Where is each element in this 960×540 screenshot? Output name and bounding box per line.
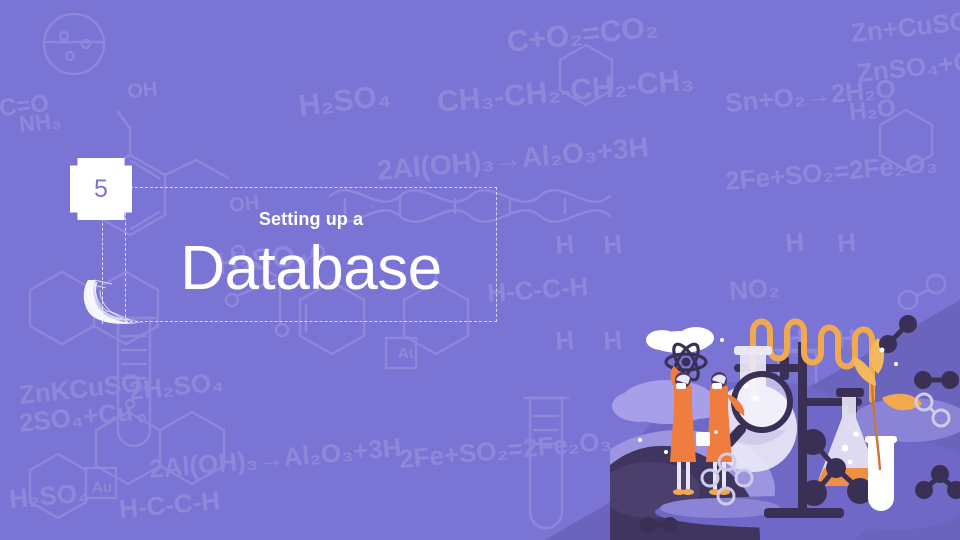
svg-text:CH₃-CH₂-CH₂-CH₃: CH₃-CH₂-CH₂-CH₃ [436,64,696,119]
svg-text:2SO₄+Cu: 2SO₄+Cu [17,396,134,438]
svg-text:2Fe+SO₂=2Fe₂O₃: 2Fe+SO₂=2Fe₂O₃ [398,426,613,474]
svg-text:H: H [554,325,575,356]
svg-text:H-C-C-H: H-C-C-H [118,485,221,524]
svg-text:H: H [554,229,575,260]
brush-stroke-feather-icon [78,276,154,326]
slide-number: 5 [70,158,132,220]
svg-text:2H₂SO₄: 2H₂SO₄ [127,366,224,406]
svg-text:2Fe+SO₂=2Fe₂O₃: 2Fe+SO₂=2Fe₂O₃ [724,148,939,196]
svg-text:H-C-C-H: H-C-C-H [486,271,589,308]
svg-text:NH₃: NH₃ [18,108,62,137]
svg-text:H₂SO₄: H₂SO₄ [8,477,91,514]
svg-text:H: H [602,229,623,260]
svg-text:2Al(OH)₃→Al₂O₃+3H: 2Al(OH)₃→Al₂O₃+3H [376,131,650,186]
svg-text:Au: Au [92,479,112,496]
slide-number-badge: 5 [70,158,132,220]
science-laboratory-illustration [610,290,960,540]
svg-text:H₂O: H₂O [848,94,897,126]
cloud-icon [646,327,714,353]
svg-text:C=O: C=O [0,90,50,122]
slide-title: Database [180,238,441,300]
svg-text:Zn+CuSO₄: Zn+CuSO₄ [849,4,960,48]
svg-text:H: H [784,227,805,258]
presentation-slide: OH H₂SO₄ C+O₂=CO₂ CH₃-CH₂-CH₂-CH₃ 2Al(OH… [0,0,960,540]
svg-text:ZnSO₄+Cu: ZnSO₄+Cu [855,44,960,88]
svg-text:H₂SO₄: H₂SO₄ [297,79,393,123]
svg-text:OH: OH [127,78,159,103]
svg-text:H: H [836,227,857,258]
svg-text:C+O₂=CO₂: C+O₂=CO₂ [505,10,659,59]
title-block: Setting up a Database [125,187,497,322]
slide-eyebrow: Setting up a [259,210,363,228]
svg-text:Sn+O₂→2H₂O: Sn+O₂→2H₂O [724,73,897,118]
svg-text:2Al(OH)₃→Al₂O₃+3H: 2Al(OH)₃→Al₂O₃+3H [148,432,403,484]
svg-text:ZnKCuSO₄: ZnKCuSO₄ [17,366,155,410]
svg-text:Au: Au [398,345,418,362]
